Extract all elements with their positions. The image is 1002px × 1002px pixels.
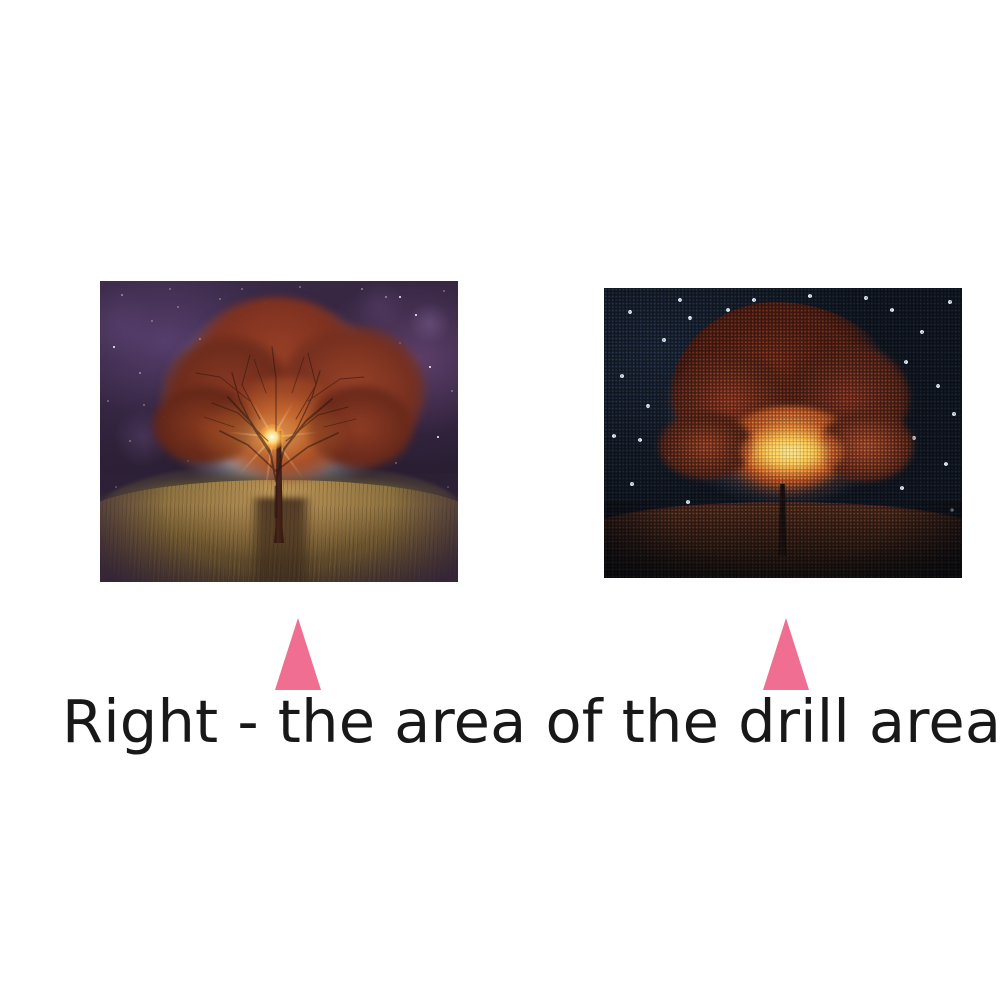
caption-text: Right - the area of the drill area	[62, 692, 992, 751]
drill-mosaic-panel	[604, 288, 962, 578]
triangle-up-icon	[275, 618, 321, 690]
photo-branch-detail	[100, 281, 458, 582]
screenshot-canvas: Right - the area of the drill area	[0, 0, 1002, 1002]
drill-canopy-patch	[658, 412, 754, 480]
drill-sun-core	[740, 424, 844, 480]
drill-artwork	[604, 288, 962, 578]
triangle-up-icon	[763, 618, 809, 690]
original-photo-panel	[100, 281, 458, 582]
